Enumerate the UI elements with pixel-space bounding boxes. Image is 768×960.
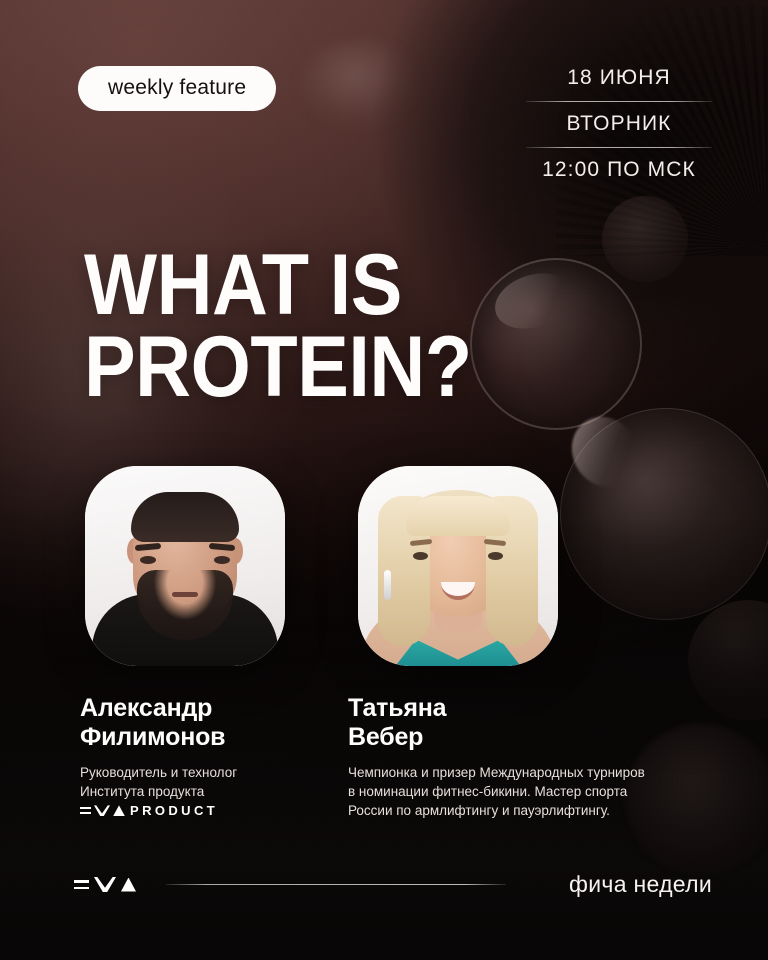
speaker-bio-line-3: России по армлифтингу и пауэрлифтингу. [348,801,698,820]
footer-divider [166,884,506,885]
brand-lockup-ewa-product: PRODUCT [80,804,330,817]
speaker-role-line-2: Института продукта [80,782,330,801]
speaker-info-alexander: Александр Филимонов Руководитель и техно… [80,694,330,817]
schedule-weekday: ВТОРНИК [526,102,712,147]
equals-glyph-icon [80,807,91,814]
headline: WHAT IS PROTEIN? [84,244,472,409]
triangle-glyph-icon [113,805,125,816]
portrait-image-male [85,466,285,666]
weekly-feature-badge: weekly feature [78,66,276,111]
speaker-role-line-1: Руководитель и технолог [80,763,330,782]
portrait-image-female [358,466,558,666]
footer-bar: фича недели [74,871,712,898]
schedule-time: 12:00 ПО МСК [526,148,712,193]
brand-word-product: PRODUCT [130,804,218,817]
footer-caption: фича недели [569,871,712,898]
equals-glyph-icon [74,880,89,889]
schedule-block: 18 ИЮНЯ ВТОРНИК 12:00 ПО МСК [526,56,712,193]
speaker-name-tatyana: Татьяна Вебер [348,694,698,751]
speaker-bio-line-1: Чемпионка и призер Международных турниро… [348,763,698,782]
speaker-role-alexander: Руководитель и технолог Института продук… [80,763,330,801]
headline-line-2: PROTEIN? [84,326,472,409]
schedule-date: 18 ИЮНЯ [526,56,712,101]
poster-canvas: weekly feature 18 ИЮНЯ ВТОРНИК 12:00 ПО … [0,0,768,960]
speaker-bio-tatyana: Чемпионка и призер Международных турниро… [348,763,698,820]
ewa-mark-icon [80,805,125,816]
portrait-alexander-filimonov [85,466,285,666]
w-glyph-icon [94,877,116,892]
speaker-bio-line-2: в номинации фитнес-бикини. Мастер спорта [348,782,698,801]
portrait-tatyana-veber [358,466,558,666]
triangle-glyph-icon [121,878,136,892]
speaker-name-line-1: Татьяна [348,694,446,722]
speaker-name-line-1: Александр [80,694,212,722]
w-glyph-icon [94,805,110,816]
speaker-name-alexander: Александр Филимонов [80,694,330,751]
speaker-info-tatyana: Татьяна Вебер Чемпионка и призер Междуна… [348,694,698,820]
headline-line-1: WHAT IS [84,237,402,333]
speaker-name-line-2: Филимонов [80,723,330,752]
ewa-mark-icon [74,877,136,892]
speaker-name-line-2: Вебер [348,723,698,752]
